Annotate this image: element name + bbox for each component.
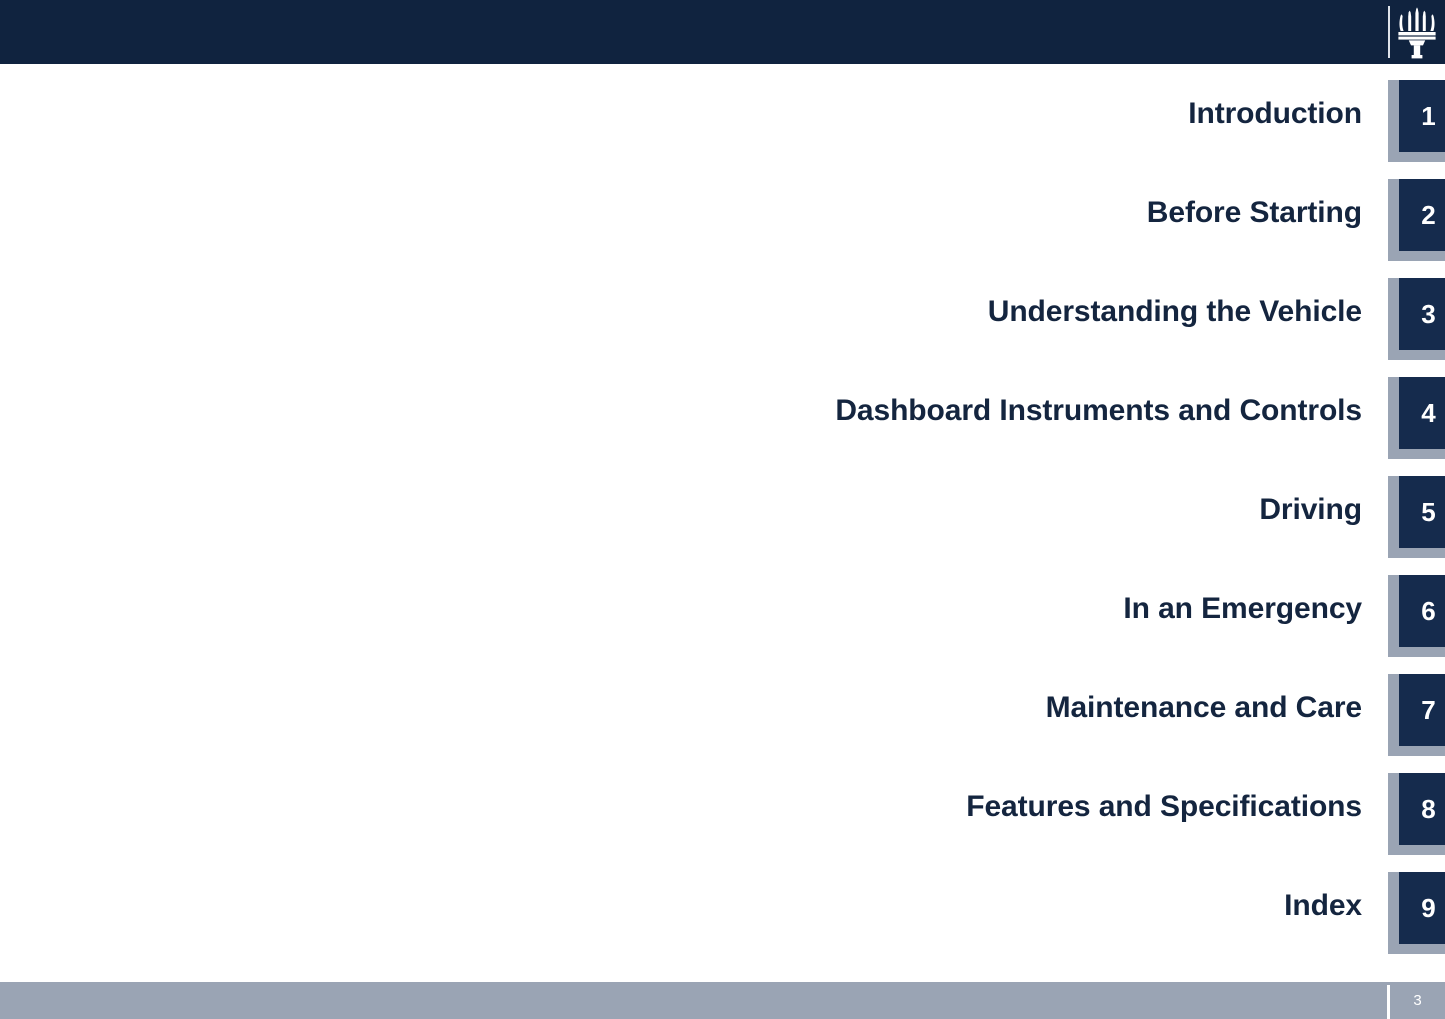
chapter-tab-number[interactable]: 4: [1399, 377, 1445, 449]
chapter-tab-number[interactable]: 8: [1399, 773, 1445, 845]
chapter-tab-number[interactable]: 1: [1399, 80, 1445, 152]
contents-entry-label[interactable]: Index: [1284, 856, 1362, 955]
chapter-tab-4[interactable]: 4: [1388, 377, 1445, 459]
contents-entry-9[interactable]: Index 9: [0, 856, 1445, 955]
contents-entry-label[interactable]: Before Starting: [1147, 163, 1362, 262]
manual-contents-page: Introduction 1 Before Starting 2 Underst…: [0, 0, 1445, 1019]
contents-entry-label[interactable]: Maintenance and Care: [1046, 658, 1362, 757]
contents-entry-5[interactable]: Driving 5: [0, 460, 1445, 559]
chapter-tab-6[interactable]: 6: [1388, 575, 1445, 657]
chapter-tab-2[interactable]: 2: [1388, 179, 1445, 261]
chapter-tab-number[interactable]: 3: [1399, 278, 1445, 350]
contents-entry-2[interactable]: Before Starting 2: [0, 163, 1445, 262]
chapter-tab-7[interactable]: 7: [1388, 674, 1445, 756]
contents-entry-label[interactable]: In an Emergency: [1123, 559, 1362, 658]
contents-list: Introduction 1 Before Starting 2 Underst…: [0, 64, 1445, 982]
contents-entry-4[interactable]: Dashboard Instruments and Controls 4: [0, 361, 1445, 460]
chapter-tab-5[interactable]: 5: [1388, 476, 1445, 558]
chapter-tab-1[interactable]: 1: [1388, 80, 1445, 162]
chapter-tab-number[interactable]: 9: [1399, 872, 1445, 944]
chapter-tab-3[interactable]: 3: [1388, 278, 1445, 360]
contents-entry-8[interactable]: Features and Specifications 8: [0, 757, 1445, 856]
chapter-tab-number[interactable]: 5: [1399, 476, 1445, 548]
contents-entry-3[interactable]: Understanding the Vehicle 3: [0, 262, 1445, 361]
maserati-trident-icon: [1396, 7, 1438, 59]
chapter-tab-number[interactable]: 2: [1399, 179, 1445, 251]
header-vertical-divider: [1388, 6, 1390, 58]
chapter-tab-9[interactable]: 9: [1388, 872, 1445, 954]
contents-entry-6[interactable]: In an Emergency 6: [0, 559, 1445, 658]
contents-entry-label[interactable]: Features and Specifications: [966, 757, 1362, 856]
contents-entry-7[interactable]: Maintenance and Care 7: [0, 658, 1445, 757]
chapter-tab-8[interactable]: 8: [1388, 773, 1445, 855]
page-number: 3: [1390, 982, 1445, 1019]
contents-entry-label[interactable]: Understanding the Vehicle: [988, 262, 1362, 361]
page-footer-band: 3: [0, 982, 1445, 1019]
chapter-tab-number[interactable]: 7: [1399, 674, 1445, 746]
contents-entry-label[interactable]: Introduction: [1188, 64, 1362, 163]
contents-entry-1[interactable]: Introduction 1: [0, 64, 1445, 163]
contents-entry-label[interactable]: Driving: [1259, 460, 1362, 559]
page-header-band: [0, 0, 1445, 64]
contents-entry-label[interactable]: Dashboard Instruments and Controls: [835, 361, 1362, 460]
chapter-tab-number[interactable]: 6: [1399, 575, 1445, 647]
